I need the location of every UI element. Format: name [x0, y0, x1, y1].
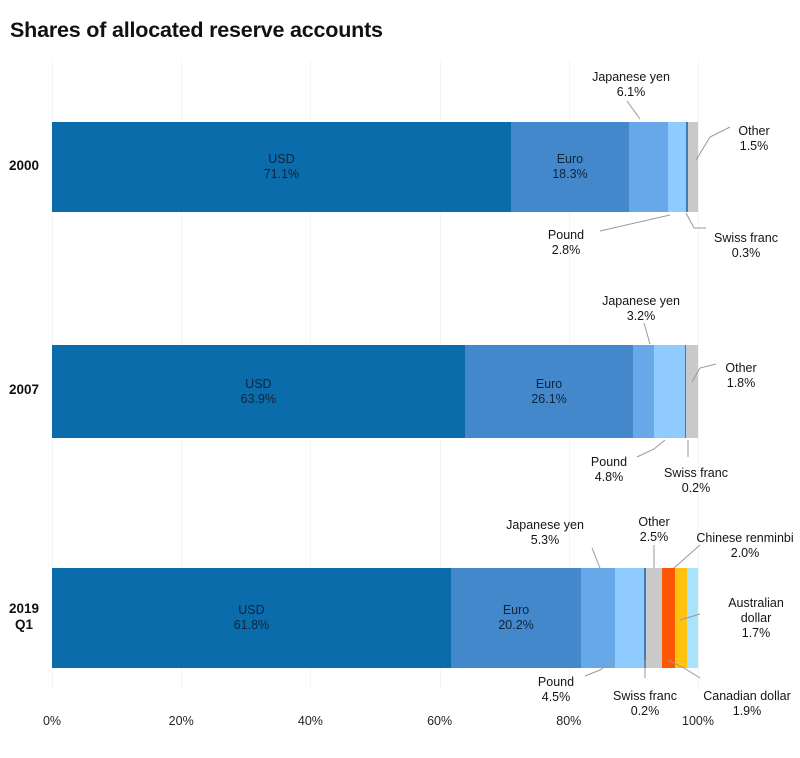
- gridline-100: [698, 60, 699, 690]
- bar-segment-usd[interactable]: USD61.8%: [52, 568, 451, 668]
- plot-area: 0%20%40%60%80%100% USD71.1%Euro18.3%USD6…: [52, 60, 698, 736]
- segment-name: Euro: [503, 603, 529, 617]
- callout-percent: 6.1%: [592, 85, 670, 100]
- callout-c-2019-other: Other2.5%: [638, 515, 669, 545]
- category-label-row-2019q1: 2019Q1: [0, 601, 48, 632]
- x-tick-label: 20%: [169, 714, 194, 728]
- callout-percent: 3.2%: [602, 309, 680, 324]
- callout-name: Canadian dollar: [703, 689, 791, 703]
- callout-c-2019-yen: Japanese yen5.3%: [506, 518, 584, 548]
- bar-segment-pound[interactable]: [668, 122, 686, 212]
- segment-name: USD: [268, 152, 294, 166]
- callout-percent: 0.3%: [714, 246, 778, 261]
- bar-segment-chinese-renminbi[interactable]: [662, 568, 675, 668]
- bar-segment-canadian-dollar[interactable]: [675, 568, 687, 668]
- chart-title: Shares of allocated reserve accounts: [10, 18, 383, 43]
- callout-name: Swiss franc: [613, 689, 677, 703]
- callout-name: Pound: [591, 455, 627, 469]
- segment-name: Euro: [557, 152, 583, 166]
- bar-segment-euro[interactable]: Euro26.1%: [465, 345, 634, 438]
- x-tick-label: 40%: [298, 714, 323, 728]
- x-tick-label: 60%: [427, 714, 452, 728]
- callout-c-2019-pound: Pound4.5%: [538, 675, 574, 705]
- callout-percent: 5.3%: [506, 533, 584, 548]
- callout-percent: 1.5%: [738, 139, 769, 154]
- category-label-row-2007: 2007: [0, 382, 48, 398]
- callout-name: Other: [725, 361, 756, 375]
- callout-name: Japanese yen: [506, 518, 584, 532]
- bar-segment-euro[interactable]: Euro20.2%: [451, 568, 581, 668]
- bar-segment-australian-dollar[interactable]: [687, 568, 698, 668]
- callout-percent: 4.5%: [538, 690, 574, 705]
- category-label-row-2000: 2000: [0, 158, 48, 174]
- callout-percent: 0.2%: [664, 481, 728, 496]
- bar-segment-usd[interactable]: USD71.1%: [52, 122, 511, 212]
- callout-name: Swiss franc: [714, 231, 778, 245]
- callout-c-2000-chf: Swiss franc0.3%: [714, 231, 778, 261]
- bar-segment-other[interactable]: [688, 122, 698, 212]
- callout-c-2000-other: Other1.5%: [738, 124, 769, 154]
- callout-name: Pound: [538, 675, 574, 689]
- segment-inline-label: USD71.1%: [264, 152, 299, 182]
- callout-name: Swiss franc: [664, 466, 728, 480]
- segment-name: Euro: [536, 377, 562, 391]
- callout-percent: 2.0%: [696, 546, 793, 561]
- bar-segment-euro[interactable]: Euro18.3%: [511, 122, 629, 212]
- callout-percent: 0.2%: [613, 704, 677, 719]
- callout-name-line2: dollar: [728, 611, 784, 626]
- segment-inline-label: Euro18.3%: [552, 152, 587, 182]
- segment-percent: 20.2%: [498, 618, 533, 633]
- bar-segment-other[interactable]: [646, 568, 662, 668]
- callout-name: Australian: [728, 596, 784, 610]
- callout-c-2019-chf: Swiss franc0.2%: [613, 689, 677, 719]
- segment-inline-label: USD61.8%: [234, 603, 269, 633]
- segment-percent: 71.1%: [264, 167, 299, 182]
- segment-inline-label: Euro26.1%: [531, 377, 566, 407]
- callout-c-2019-cny: Chinese renminbi2.0%: [696, 531, 793, 561]
- callout-c-2007-pound: Pound4.8%: [591, 455, 627, 485]
- category-label-line1: 2007: [0, 382, 48, 398]
- callout-name: Other: [638, 515, 669, 529]
- x-tick-label: 80%: [556, 714, 581, 728]
- callout-name: Japanese yen: [592, 70, 670, 84]
- callout-percent: 2.5%: [638, 530, 669, 545]
- segment-inline-label: Euro20.2%: [498, 603, 533, 633]
- callout-percent: 1.9%: [703, 704, 791, 719]
- leader-line-l-2000-other: [696, 127, 730, 160]
- bar-segment-usd[interactable]: USD63.9%: [52, 345, 465, 438]
- callout-name: Chinese renminbi: [696, 531, 793, 545]
- callout-c-2000-yen: Japanese yen6.1%: [592, 70, 670, 100]
- segment-name: USD: [238, 603, 264, 617]
- callout-name: Japanese yen: [602, 294, 680, 308]
- callout-c-2000-pound: Pound2.8%: [548, 228, 584, 258]
- callout-c-2019-aud: Australiandollar1.7%: [728, 596, 784, 641]
- segment-percent: 26.1%: [531, 392, 566, 407]
- callout-percent: 2.8%: [548, 243, 584, 258]
- bar-row-row-2000: USD71.1%Euro18.3%: [52, 122, 698, 212]
- category-label-line1: 2000: [0, 158, 48, 174]
- x-tick-label: 0%: [43, 714, 61, 728]
- bar-segment-pound[interactable]: [654, 345, 685, 438]
- bar-row-row-2019q1: USD61.8%Euro20.2%: [52, 568, 698, 668]
- category-label-line2: Q1: [0, 617, 48, 633]
- stacked-bar-chart: Shares of allocated reserve accounts 0%2…: [0, 0, 800, 758]
- callout-name: Pound: [548, 228, 584, 242]
- callout-percent: 1.7%: [728, 626, 784, 641]
- bar-segment-pound[interactable]: [615, 568, 644, 668]
- callout-name: Other: [738, 124, 769, 138]
- bar-segment-japanese-yen[interactable]: [581, 568, 615, 668]
- segment-percent: 18.3%: [552, 167, 587, 182]
- callout-c-2007-other: Other1.8%: [725, 361, 756, 391]
- bar-segment-japanese-yen[interactable]: [633, 345, 654, 438]
- segment-name: USD: [245, 377, 271, 391]
- category-label-line1: 2019: [0, 601, 48, 617]
- segment-inline-label: USD63.9%: [241, 377, 276, 407]
- bar-row-row-2007: USD63.9%Euro26.1%: [52, 345, 698, 438]
- callout-c-2007-chf: Swiss franc0.2%: [664, 466, 728, 496]
- callout-c-2007-yen: Japanese yen3.2%: [602, 294, 680, 324]
- segment-percent: 63.9%: [241, 392, 276, 407]
- callout-percent: 1.8%: [725, 376, 756, 391]
- callout-percent: 4.8%: [591, 470, 627, 485]
- segment-percent: 61.8%: [234, 618, 269, 633]
- bar-segment-other[interactable]: [686, 345, 698, 438]
- callout-c-2019-cad: Canadian dollar1.9%: [703, 689, 791, 719]
- bar-segment-japanese-yen[interactable]: [629, 122, 668, 212]
